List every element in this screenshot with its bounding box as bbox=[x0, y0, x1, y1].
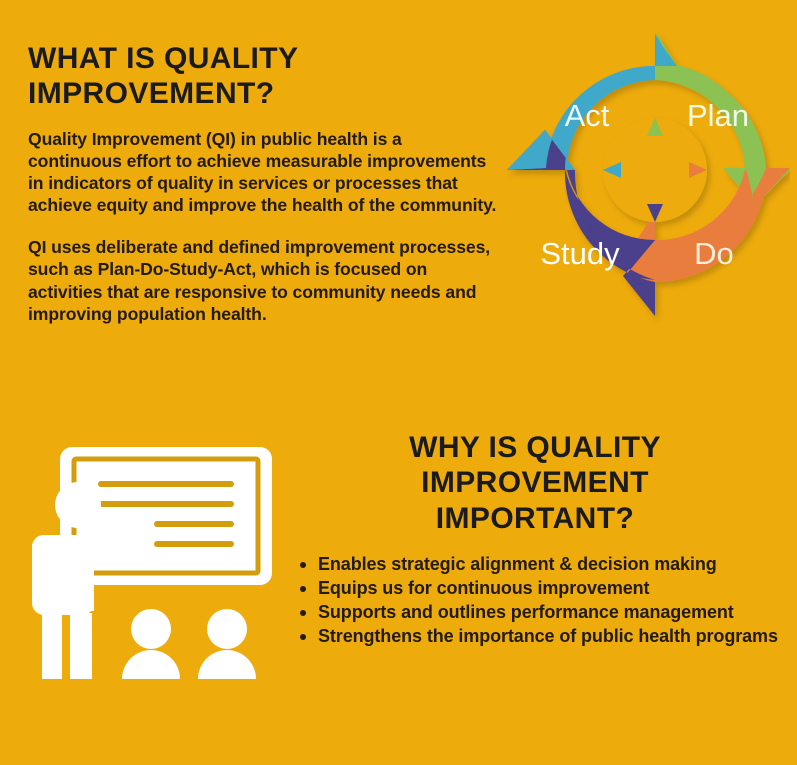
presenter-illustration bbox=[28, 443, 280, 683]
pdsa-label-act: Act bbox=[565, 98, 610, 133]
whiteboard-line bbox=[154, 541, 234, 547]
whiteboard-line bbox=[98, 481, 234, 487]
presenter-arm bbox=[68, 535, 144, 559]
section-why-title: WHY IS QUALITYIMPROVEMENTIMPORTANT? bbox=[292, 430, 778, 536]
list-item: Enables strategic alignment & decision m… bbox=[292, 554, 778, 576]
qi-definition-paragraph: Quality Improvement (QI) in public healt… bbox=[28, 128, 500, 217]
section-what-is-qi: WHAT IS QUALITYIMPROVEMENT? Quality Impr… bbox=[28, 42, 500, 325]
heading-line-1: WHAT IS QUALITY bbox=[28, 42, 298, 75]
audience-head bbox=[207, 609, 247, 649]
section-why-important: WHY IS QUALITYIMPROVEMENTIMPORTANT? Enab… bbox=[292, 430, 778, 650]
pdsa-cycle-diagram: Plan Do Study Act bbox=[505, 18, 790, 330]
list-item: Supports and outlines performance manage… bbox=[292, 602, 778, 624]
pdsa-label-study: Study bbox=[540, 236, 620, 271]
whiteboard-line bbox=[154, 521, 234, 527]
list-item: Equips us for continuous improvement bbox=[292, 578, 778, 600]
audience-head bbox=[131, 609, 171, 649]
why-heading-line-3: IMPORTANT? bbox=[436, 502, 634, 535]
audience-body bbox=[198, 650, 256, 679]
list-item: Strengthens the importance of public hea… bbox=[292, 626, 778, 648]
why-heading-line-2: IMPROVEMENT bbox=[421, 466, 649, 499]
heading-line-2: IMPROVEMENT? bbox=[28, 77, 274, 110]
why-heading-line-1: WHY IS QUALITY bbox=[409, 431, 661, 464]
qi-process-paragraph: QI uses deliberate and defined improveme… bbox=[28, 236, 500, 325]
page-title: WHAT IS QUALITYIMPROVEMENT? bbox=[28, 42, 500, 112]
presenter-head bbox=[55, 482, 101, 528]
presenter-leg-right bbox=[70, 613, 92, 679]
whiteboard-line bbox=[98, 501, 234, 507]
infographic-canvas: WHAT IS QUALITYIMPROVEMENT? Quality Impr… bbox=[0, 0, 797, 765]
presenter-leg-left bbox=[42, 613, 62, 679]
pdsa-label-plan: Plan bbox=[687, 98, 749, 133]
benefits-list: Enables strategic alignment & decision m… bbox=[292, 554, 778, 648]
pdsa-label-do: Do bbox=[694, 236, 734, 271]
audience-body bbox=[122, 650, 180, 679]
